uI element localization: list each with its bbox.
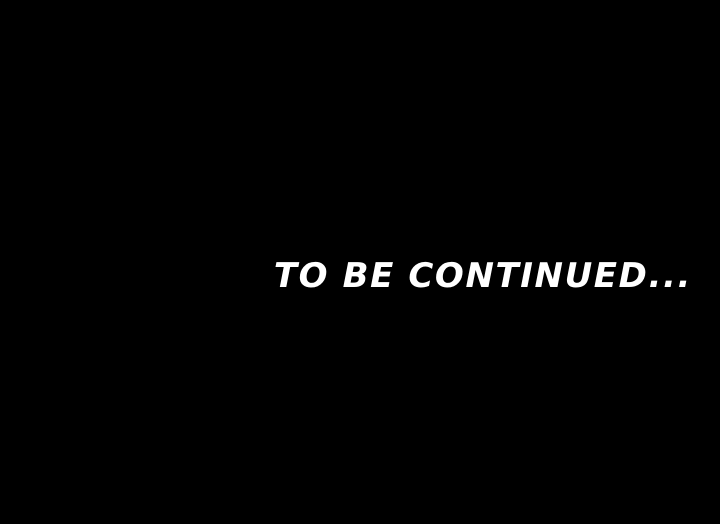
- comic-end-panel: TO BE CONTINUED...: [0, 0, 720, 524]
- caption-layer: TO BE CONTINUED...: [0, 0, 720, 524]
- to-be-continued-caption: TO BE CONTINUED...: [274, 256, 692, 296]
